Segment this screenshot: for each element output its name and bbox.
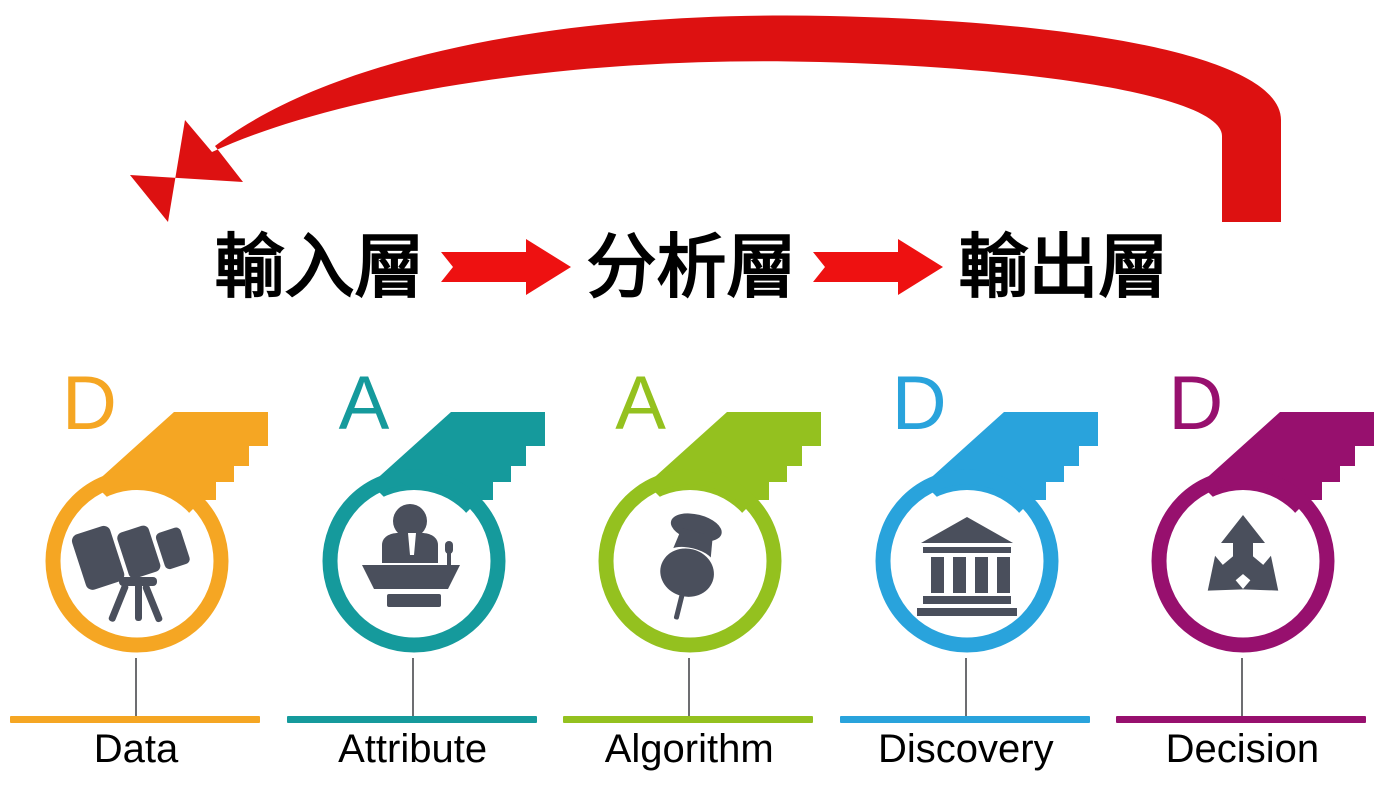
key-stem xyxy=(412,658,414,716)
right-arrow-icon xyxy=(441,239,571,295)
key-shape xyxy=(1112,378,1383,678)
key-baseline xyxy=(1116,716,1366,723)
key-item-decision[interactable]: D Decision xyxy=(1106,368,1383,788)
layer-label-output: 輸出層 xyxy=(959,232,1169,302)
key-baseline xyxy=(287,716,537,723)
key-stem xyxy=(688,658,690,716)
key-label-decision: Decision xyxy=(1106,726,1378,772)
key-item-attribute[interactable]: A Attribute xyxy=(277,368,554,788)
key-stem xyxy=(965,658,967,716)
dadd-keys-diagram: 輸入層 分析層 輸出層 D xyxy=(0,0,1383,788)
key-shape xyxy=(836,378,1108,678)
key-label-algorithm: Algorithm xyxy=(553,726,825,772)
key-shape xyxy=(559,378,831,678)
layer-label-input: 輸入層 xyxy=(215,232,425,302)
key-label-data: Data xyxy=(0,726,272,772)
key-stem xyxy=(1241,658,1243,716)
key-baseline xyxy=(840,716,1090,723)
key-label-discovery: Discovery xyxy=(830,726,1102,772)
layer-label-analysis: 分析層 xyxy=(587,232,797,302)
key-shape xyxy=(283,378,555,678)
key-item-data[interactable]: D xyxy=(0,368,277,788)
key-item-algorithm[interactable]: A Algorithm xyxy=(553,368,830,788)
keys-row: D xyxy=(0,368,1383,788)
key-shape xyxy=(6,378,278,678)
layer-flow-band: 輸入層 分析層 輸出層 xyxy=(0,212,1383,322)
right-arrow-icon xyxy=(813,239,943,295)
key-baseline xyxy=(10,716,260,723)
key-stem xyxy=(135,658,137,716)
key-item-discovery[interactable]: D Di xyxy=(830,368,1107,788)
key-baseline xyxy=(563,716,813,723)
key-label-attribute: Attribute xyxy=(277,726,549,772)
